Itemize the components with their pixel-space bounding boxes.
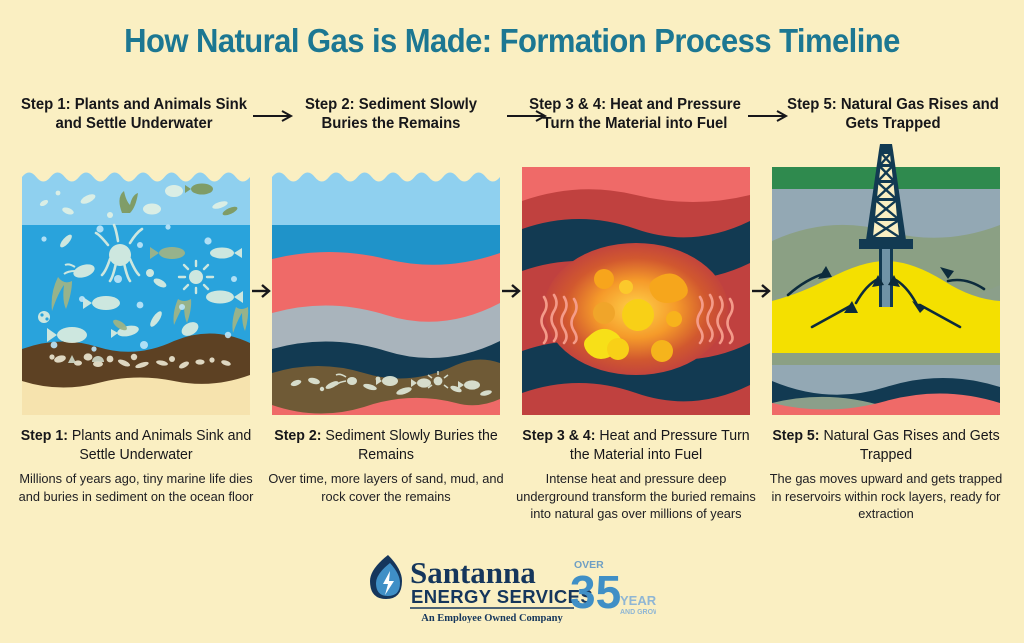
step-caption-4: Step 5: Natural Gas Rises and Gets Trapp… — [765, 427, 1008, 522]
step-header-3: Step 3 & 4: Heat and Pressure Turn the M… — [526, 95, 745, 134]
panel-arrow-icon-3 — [750, 281, 774, 301]
illustration-panel-4-reservoir — [772, 167, 1000, 415]
illustration-panel-1-ocean — [22, 167, 250, 415]
logo-subtitle: ENERGY SERVICES — [411, 586, 593, 607]
step-title-2: Sediment Slowly Buries the Remains — [321, 428, 497, 463]
infographic-root: How Natural Gas is Made: Formation Proce… — [0, 0, 1024, 643]
step-header-row: Step 1: Plants and Animals Sink and Sett… — [0, 95, 1024, 155]
step-body-3: Intense heat and pressure deep undergrou… — [515, 470, 758, 521]
logo-brand: Santanna — [410, 555, 536, 590]
step-label-2: Step 2: — [274, 428, 321, 444]
step-label-4: Step 5: — [772, 428, 819, 444]
logo-badge-growing: AND GROWING — [620, 609, 656, 616]
step-body-1: Millions of years ago, tiny marine life … — [15, 470, 258, 504]
illustration-panel-3-heat-pressure — [522, 167, 750, 415]
step-caption-title-2: Step 2: Sediment Slowly Buries the Remai… — [265, 427, 508, 464]
flame-icon — [370, 555, 402, 599]
illustration-panel-2-sediment — [272, 167, 500, 415]
panel-arrow-icon-1 — [250, 281, 274, 301]
step-body-4: The gas moves upward and gets trapped in… — [765, 470, 1008, 521]
logo-badge-years: YEARS — [620, 593, 656, 608]
step-caption-1: Step 1: Plants and Animals Sink and Sett… — [15, 427, 258, 505]
step-title-4: Natural Gas Rises and Gets Trapped — [820, 428, 1000, 463]
step-caption-title-4: Step 5: Natural Gas Rises and Gets Trapp… — [765, 427, 1008, 464]
step-caption-3: Step 3 & 4: Heat and Pressure Turn the M… — [515, 427, 758, 522]
logo-tagline: An Employee Owned Company — [421, 613, 563, 623]
page-title: How Natural Gas is Made: Formation Proce… — [31, 22, 994, 60]
step-body-2: Over time, more layers of sand, mud, and… — [265, 470, 508, 504]
step-caption-2: Step 2: Sediment Slowly Buries the Remai… — [265, 427, 508, 505]
step-caption-title-3: Step 3 & 4: Heat and Pressure Turn the M… — [515, 427, 758, 464]
step-caption-title-1: Step 1: Plants and Animals Sink and Sett… — [15, 427, 258, 464]
step-label-3: Step 3 & 4: — [522, 428, 595, 444]
panel-arrow-icon-2 — [500, 281, 524, 301]
step-label-1: Step 1: — [21, 428, 68, 444]
santanna-logo: Santanna ENERGY SERVICES An Employee Own… — [366, 551, 656, 623]
step-title-1: Plants and Animals Sink and Settle Under… — [68, 428, 251, 463]
step-header-1: Step 1: Plants and Animals Sink and Sett… — [19, 95, 249, 134]
step-title-3: Heat and Pressure Turn the Material into… — [570, 428, 750, 463]
step-header-2: Step 2: Sediment Slowly Buries the Remai… — [286, 95, 495, 134]
logo-badge-number: 35 — [570, 566, 621, 618]
step-header-4: Step 5: Natural Gas Rises and Gets Trapp… — [783, 95, 1004, 134]
